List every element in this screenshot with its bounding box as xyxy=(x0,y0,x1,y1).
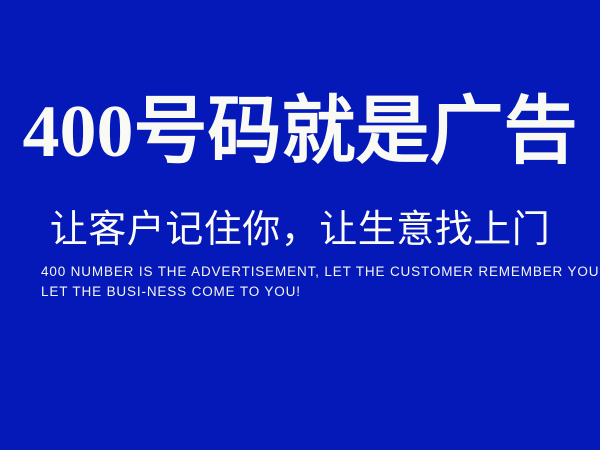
english-caption-line-2: LET THE BUSI-NESS COME TO YOU! xyxy=(41,282,571,302)
english-caption-line-1: 400 NUMBER IS THE ADVERTISEMENT, LET THE… xyxy=(41,262,571,282)
promotional-banner: 400号码就是广告 让客户记住你，让生意找上门 400 NUMBER IS TH… xyxy=(0,0,600,450)
subtitle-text: 让客户记住你，让生意找上门 xyxy=(0,206,600,254)
english-caption: 400 NUMBER IS THE ADVERTISEMENT, LET THE… xyxy=(41,262,571,302)
headline-text: 400号码就是广告 xyxy=(0,92,600,172)
